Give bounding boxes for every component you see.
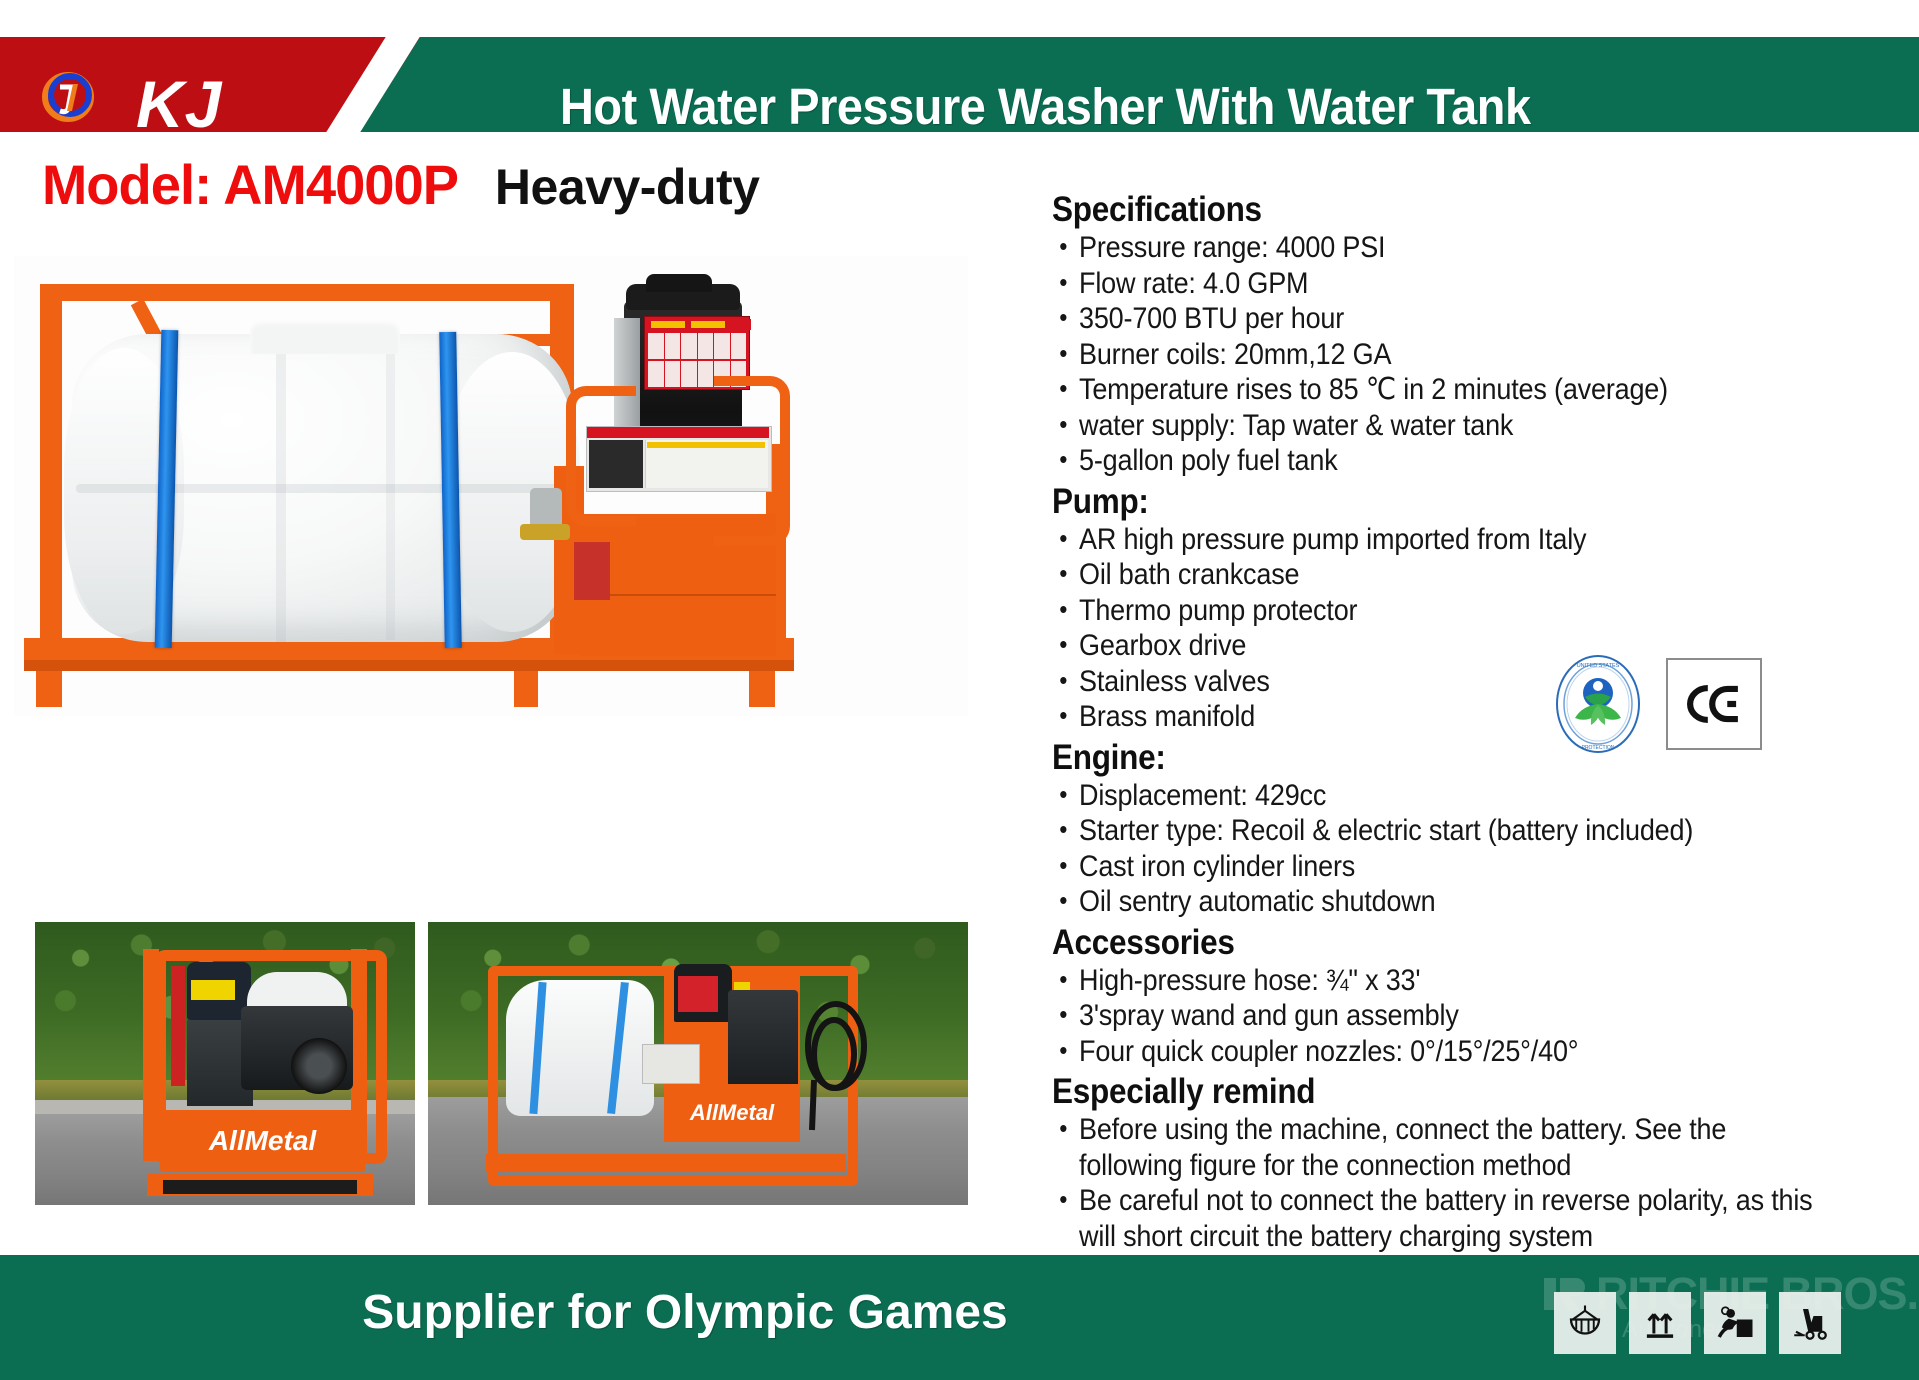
tank-filler-neck — [250, 320, 400, 354]
list-item: Be careful not to connect the battery in… — [1052, 1183, 1835, 1254]
section-heading-pump: Pump: — [1052, 482, 1826, 522]
section-list-pump: AR high pressure pump imported from Ital… — [1052, 522, 1912, 735]
list-item: Four quick coupler nozzles: 0°/15°/25°/4… — [1052, 1034, 1826, 1070]
footer-tagline: Supplier for Olympic Games — [0, 1285, 1370, 1340]
cage-post-left — [143, 949, 159, 1161]
specifications-column: Specifications Pressure range: 4000 PSI … — [1052, 190, 1912, 1254]
caution-label-angle — [678, 976, 718, 1012]
svg-text:PROTECTION: PROTECTION — [1582, 745, 1615, 751]
main-product-photo — [14, 256, 968, 716]
unit-handle-left — [566, 386, 636, 526]
model-number: Model: AM4000P — [42, 152, 458, 217]
handling-icon-row — [1554, 1292, 1841, 1354]
skid-base-angle — [486, 1154, 846, 1172]
list-item: Before using the machine, connect the ba… — [1052, 1112, 1835, 1183]
duty-class: Heavy-duty — [495, 158, 760, 216]
sling-lift-icon — [1554, 1292, 1616, 1354]
list-item: Starter type: Recoil & electric start (b… — [1052, 813, 1826, 849]
section-list-accessories: High-pressure hose: ¾" x 33' 3'spray wan… — [1052, 963, 1912, 1070]
forklift-icon — [1779, 1292, 1841, 1354]
ritchie-bros-watermark: RITCHIE BROS. Auctioneers — [1536, 1272, 1919, 1372]
page-header: KJ Hot Water Pressure Washer With Water … — [0, 37, 1919, 132]
tank-seam-vertical-2 — [386, 344, 395, 640]
engine-flywheel-cover — [291, 1038, 347, 1094]
section-heading-accessories: Accessories — [1052, 923, 1826, 963]
product-photo-angle: AllMetal — [428, 922, 968, 1205]
brand-plate-front-text: AllMetal — [160, 1114, 365, 1168]
section-list-especially-remind: Before using the machine, connect the ba… — [1052, 1112, 1912, 1254]
caution-pictogram-row-1 — [648, 333, 746, 359]
brand-plate-angle-text: AllMetal — [664, 1088, 800, 1138]
fuel-tank-red — [574, 542, 610, 600]
caution-tag — [651, 321, 685, 328]
list-item: Thermo pump protector — [1052, 593, 1826, 629]
brand-logo-text: KJ — [136, 73, 222, 135]
brass-manifold — [520, 524, 570, 540]
svg-text:UNITED STATES: UNITED STATES — [1577, 663, 1620, 669]
list-item: Cast iron cylinder liners — [1052, 849, 1826, 885]
section-heading-specifications: Specifications — [1052, 190, 1826, 230]
list-item: Displacement: 429cc — [1052, 778, 1826, 814]
frame-foot-mid — [514, 671, 538, 707]
frame-foot-left — [36, 671, 62, 707]
list-item: 5-gallon poly fuel tank — [1052, 443, 1826, 479]
skid-channel-front — [163, 1180, 357, 1194]
list-item: High-pressure hose: ¾" x 33' — [1052, 963, 1826, 999]
unit-handle-right — [714, 376, 790, 546]
control-placard-angle — [642, 1044, 700, 1084]
list-item: Temperature rises to 85 ℃ in 2 minutes (… — [1052, 372, 1826, 408]
kj-circle-emblem-icon — [42, 71, 94, 123]
section-list-specifications: Pressure range: 4000 PSI Flow rate: 4.0 … — [1052, 230, 1912, 479]
page-title: Hot Water Pressure Washer With Water Tan… — [560, 81, 1784, 133]
tank-seam-horizontal — [76, 484, 570, 493]
no-hand-truck-icon — [1704, 1292, 1766, 1354]
unit-panel-lower — [580, 594, 776, 656]
epa-seal-icon: UNITED STATES PROTECTION — [1552, 652, 1644, 756]
yellow-warning-label — [191, 980, 235, 1000]
section-list-engine: Displacement: 429cc Starter type: Recoil… — [1052, 778, 1912, 920]
model-line: Model: AM4000P Heavy-duty — [42, 152, 759, 217]
list-item: AR high pressure pump imported from Ital… — [1052, 522, 1826, 558]
tank-seam-vertical-1 — [276, 342, 286, 642]
certification-logos: UNITED STATES PROTECTION — [1552, 648, 1772, 760]
list-item: Oil sentry automatic shutdown — [1052, 884, 1826, 920]
ce-mark-icon — [1666, 658, 1762, 750]
list-item: 3'spray wand and gun assembly — [1052, 998, 1826, 1034]
this-side-up-icon — [1629, 1292, 1691, 1354]
section-heading-especially-remind: Especially remind — [1052, 1072, 1826, 1112]
list-item: water supply: Tap water & water tank — [1052, 408, 1826, 444]
fuel-tank-strip — [171, 966, 185, 1086]
list-item: Burner coils: 20mm,12 GA — [1052, 337, 1826, 373]
spec-sheet-page: KJ Hot Water Pressure Washer With Water … — [0, 0, 1919, 1380]
list-item: 350-700 BTU per hour — [1052, 301, 1826, 337]
frame-foot-right — [749, 671, 775, 707]
warning-tag — [691, 321, 725, 328]
list-item: Oil bath crankcase — [1052, 557, 1826, 593]
water-tank-angle — [506, 980, 654, 1116]
burner-top-vent — [646, 274, 712, 292]
product-photo-front: AllMetal — [35, 922, 415, 1205]
list-item: Flow rate: 4.0 GPM — [1052, 266, 1826, 302]
list-item: Pressure range: 4000 PSI — [1052, 230, 1826, 266]
frame-top-rail — [40, 284, 570, 301]
frame-post-left — [40, 284, 62, 650]
frame-base-shadow — [24, 660, 794, 671]
high-pressure-hose-coil-icon — [794, 984, 874, 1134]
